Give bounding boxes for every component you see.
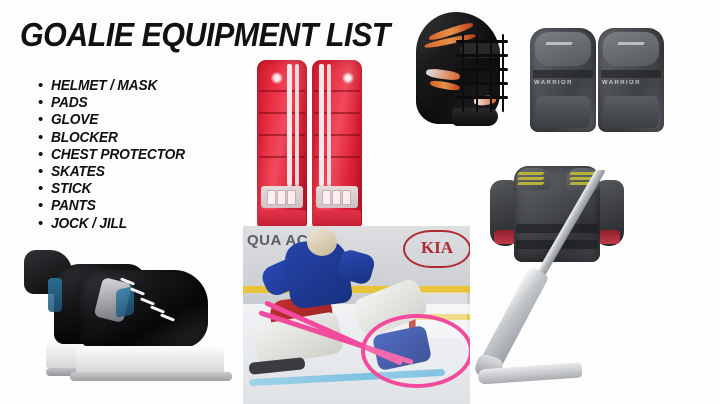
bullet-icon: • xyxy=(38,181,51,197)
list-item-label: PANTS xyxy=(51,198,96,214)
list-item-label: HELMET / MASK xyxy=(51,78,157,94)
list-item: • GLOVE xyxy=(38,112,248,129)
list-item-label: JOCK / JILL xyxy=(51,216,127,232)
knee-pads-photo: WARRIOR WARRIOR xyxy=(524,24,676,140)
knee-pad-brand: WARRIOR xyxy=(602,80,641,86)
bullet-icon: • xyxy=(38,112,51,128)
knee-pad-right: WARRIOR xyxy=(598,28,664,132)
stick-shaft xyxy=(532,170,606,285)
goalie-helmet xyxy=(307,228,337,256)
list-item-label: PADS xyxy=(51,95,88,111)
goalie-mask-photo xyxy=(408,6,512,134)
list-item-label: CHEST PROTECTOR xyxy=(51,147,185,163)
equipment-list: • HELMET / MASK • PADS • GLOVE • BLOCKER… xyxy=(38,78,248,233)
list-item: • SKATES xyxy=(38,164,248,181)
bullet-icon: • xyxy=(38,130,51,146)
annotation-circle xyxy=(361,314,470,388)
list-item: • HELMET / MASK xyxy=(38,78,248,95)
list-item: • CHEST PROTECTOR xyxy=(38,147,248,164)
mask-cage-icon xyxy=(456,34,508,112)
list-item-label: STICK xyxy=(51,181,91,197)
list-item: • PADS xyxy=(38,95,248,112)
bullet-icon: • xyxy=(38,95,51,111)
knee-pad-brand: WARRIOR xyxy=(534,80,573,86)
leg-pad-left xyxy=(257,60,307,228)
page-title: GOALIE EQUIPMENT LIST xyxy=(20,18,390,52)
leg-pad-right xyxy=(312,60,362,228)
kia-sponsor-logo: KIA xyxy=(403,230,470,268)
list-item: • STICK xyxy=(38,181,248,198)
poster-canvas: GOALIE EQUIPMENT LIST • HELMET / MASK • … xyxy=(0,0,720,404)
goalie-skates-photo xyxy=(24,250,246,392)
knee-pad-left: WARRIOR xyxy=(530,28,596,132)
list-item-label: GLOVE xyxy=(51,112,98,128)
skate-blade-front xyxy=(70,372,232,381)
bullet-icon: • xyxy=(38,164,51,180)
list-item: • PANTS xyxy=(38,198,248,215)
bullet-icon: • xyxy=(38,216,51,232)
leg-pads-photo xyxy=(250,52,375,234)
list-item-label: SKATES xyxy=(51,164,105,180)
list-item: • BLOCKER xyxy=(38,130,248,147)
list-item-label: BLOCKER xyxy=(51,130,118,146)
goalie-stick-photo xyxy=(470,170,720,395)
pad-logo-icon xyxy=(342,72,354,84)
mask-shell xyxy=(416,12,500,124)
bullet-icon: • xyxy=(38,198,51,214)
action-photo: QUA ACE KIA xyxy=(243,226,470,404)
bullet-icon: • xyxy=(38,78,51,94)
list-item: • JOCK / JILL xyxy=(38,216,248,233)
bullet-icon: • xyxy=(38,147,51,163)
pad-logo-icon xyxy=(271,72,283,84)
